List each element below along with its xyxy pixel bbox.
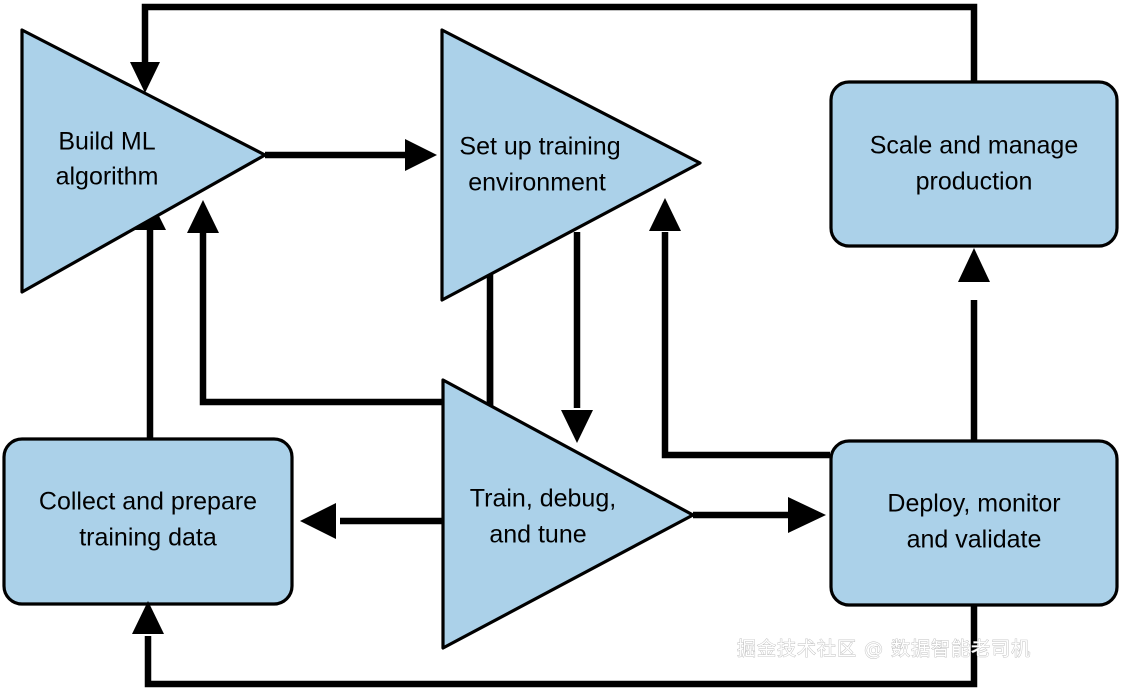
connector-train-to-build — [187, 200, 443, 402]
node-set-up-training-environment[interactable]: Set up training environment — [442, 30, 700, 300]
scale-and-manage-production-box[interactable] — [831, 82, 1117, 246]
collect-and-prepare-training-data-label-line2: training data — [79, 524, 217, 552]
arrowhead-right-icon — [405, 139, 437, 171]
build-ml-algorithm-label-line2: algorithm — [56, 163, 159, 191]
build-ml-algorithm-label-line1: Build ML — [58, 128, 155, 156]
connector-setup-to-train — [561, 232, 593, 443]
scale-and-manage-production-label-line1: Scale and manage — [870, 132, 1078, 160]
node-collect-and-prepare-training-data[interactable]: Collect and prepare training data — [4, 439, 292, 604]
deploy-monitor-and-validate-label-line2: and validate — [907, 526, 1042, 554]
deploy-monitor-and-validate-label-line1: Deploy, monitor — [887, 490, 1060, 518]
set-up-training-environment-label-line2: environment — [468, 169, 606, 197]
connector-collect-to-build — [134, 198, 166, 440]
arrowhead-up-icon — [187, 200, 219, 233]
connector-deploy-to-setup — [649, 198, 830, 455]
deploy-monitor-and-validate-box[interactable] — [831, 441, 1117, 605]
connector-train-to-collect — [300, 503, 443, 539]
connector-build-to-setup — [265, 139, 437, 171]
train-debug-and-tune-label-line1: Train, debug, — [470, 485, 616, 513]
collect-and-prepare-training-data-box[interactable] — [4, 439, 292, 604]
connector-train-to-deploy — [693, 497, 826, 533]
arrowhead-up-icon — [958, 248, 990, 282]
watermark-label: 掘金技术社区 @ 数据智能老司机 — [737, 638, 1031, 660]
ml-workflow-diagram: Build ML algorithm Set up training envir… — [0, 0, 1123, 689]
scale-and-manage-production-label-line2: production — [916, 168, 1033, 196]
node-scale-and-manage-production[interactable]: Scale and manage production — [831, 82, 1117, 246]
diagram-canvas: Build ML algorithm Set up training envir… — [0, 0, 1123, 689]
arrowhead-down-icon — [561, 410, 593, 443]
arrowhead-up-icon — [132, 601, 164, 634]
train-debug-and-tune-label-line2: and tune — [489, 521, 586, 549]
arrowhead-up-icon — [649, 198, 681, 231]
collect-and-prepare-training-data-label-line1: Collect and prepare — [39, 488, 257, 516]
connector-scale-to-build — [130, 7, 974, 93]
arrowhead-left-icon — [300, 503, 336, 539]
arrowhead-right-icon — [788, 497, 826, 533]
set-up-training-environment-label-line1: Set up training — [459, 133, 620, 161]
node-deploy-monitor-and-validate[interactable]: Deploy, monitor and validate — [831, 441, 1117, 605]
set-up-training-environment-triangle[interactable] — [442, 30, 700, 300]
connector-deploy-to-scale — [958, 248, 990, 441]
